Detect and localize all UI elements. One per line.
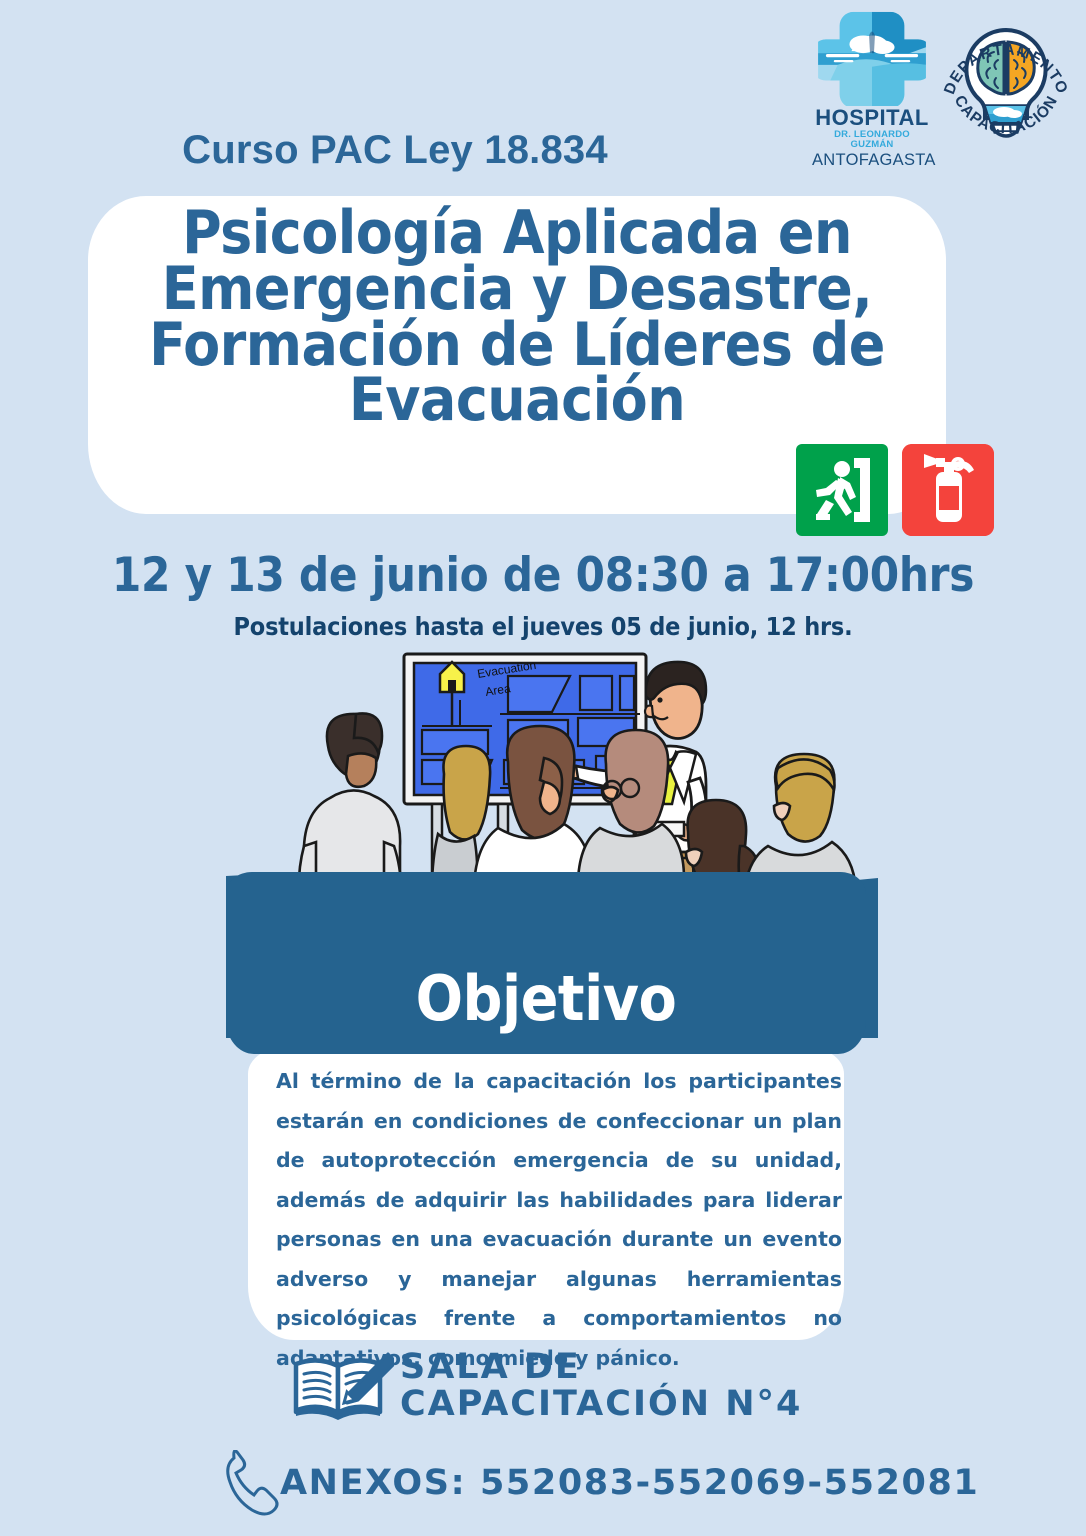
phone-icon — [222, 1450, 284, 1516]
poster-root: HOSPITAL DR. LEONARDO GUZMÁN ANTOFAGASTA — [0, 0, 1086, 1536]
hospital-logo: HOSPITAL DR. LEONARDO GUZMÁN ANTOFAGASTA — [812, 8, 932, 168]
room-line-1: SALA DE — [400, 1349, 802, 1386]
page-title: Psicología Aplicada en Emergencia y Desa… — [88, 206, 946, 429]
objective-heading: Objetivo — [226, 968, 866, 1030]
fire-extinguisher-icon — [902, 444, 994, 536]
course-law-line: Curso PAC Ley 18.834 — [0, 128, 790, 173]
safety-pictograms — [796, 444, 994, 536]
hospital-city: ANTOFAGASTA — [812, 152, 932, 169]
hospital-subtitle: DR. LEONARDO GUZMÁN — [812, 130, 932, 151]
logo-group: HOSPITAL DR. LEONARDO GUZMÁN ANTOFAGASTA — [812, 8, 1076, 168]
room-line-2: CAPACITACIÓN N°4 — [400, 1386, 802, 1423]
open-book-pencil-icon — [290, 1348, 394, 1424]
phones-label: ANEXOS: 552083-552069-552081 — [280, 1463, 979, 1503]
department-logo: DEPARTAMENTO CAPACITACIÓN — [936, 8, 1076, 158]
title-line-4: Evacuación — [88, 373, 946, 429]
application-deadline: Postulaciones hasta el jueves 05 de juni… — [0, 612, 1086, 641]
lightbulb-brain-icon: DEPARTAMENTO CAPACITACIÓN — [936, 8, 1076, 158]
objective-body: Al término de la capacitación los partic… — [276, 1062, 842, 1379]
contact-phones: ANEXOS: 552083-552069-552081 — [222, 1450, 979, 1516]
hospital-cross-icon — [818, 8, 926, 106]
training-room-info: SALA DE CAPACITACIÓN N°4 — [290, 1348, 802, 1424]
date-line: 12 y 13 de junio de 08:30 a 17:00hrs — [0, 548, 1086, 603]
room-label: SALA DE CAPACITACIÓN N°4 — [400, 1349, 802, 1423]
emergency-exit-icon — [796, 444, 888, 536]
hospital-name: HOSPITAL — [812, 107, 932, 129]
